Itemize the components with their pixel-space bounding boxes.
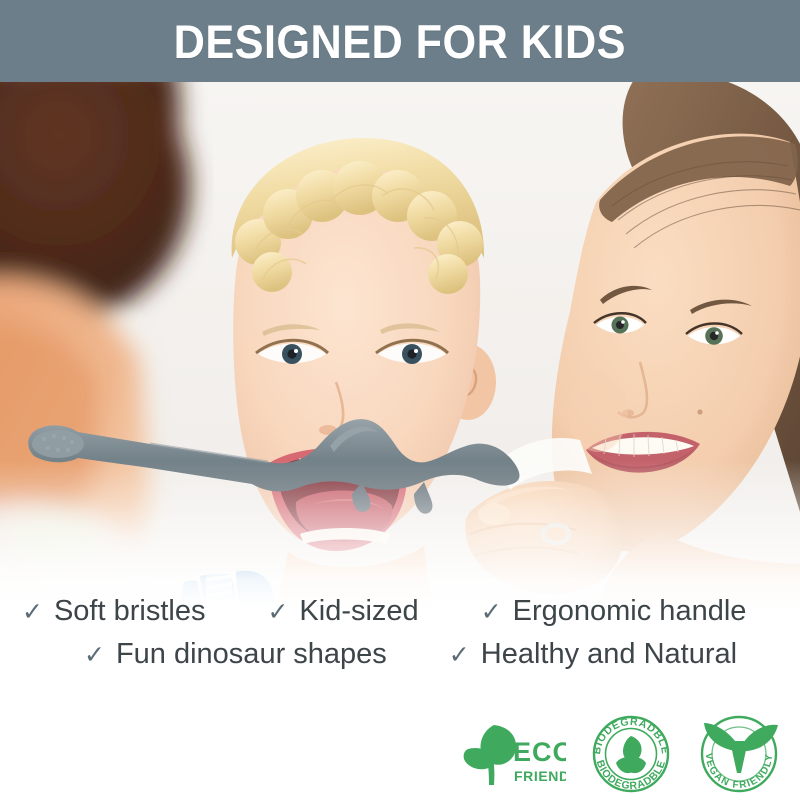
feature-soft-bristles: ✓ Soft bristles bbox=[22, 595, 205, 628]
vegan-friendly-badge: VEGAN FRIENDLY bbox=[696, 711, 782, 797]
biodegradable-badge: BIODEGRADBLE BIODEGRADBLE bbox=[588, 711, 674, 797]
feature-label: Healthy and Natural bbox=[481, 638, 737, 671]
check-icon: ✓ bbox=[267, 600, 288, 625]
feature-row-1: ✓ Soft bristles ✓ Kid-sized ✓ Ergonomic … bbox=[0, 595, 800, 628]
feature-list: ✓ Soft bristles ✓ Kid-sized ✓ Ergonomic … bbox=[0, 595, 800, 705]
hero-photo bbox=[0, 82, 800, 610]
eco-friendly-badge: ECO FRIENDLY bbox=[458, 715, 566, 793]
feature-label: Soft bristles bbox=[54, 595, 206, 628]
certification-badges: ECO FRIENDLY BIODEGRADBLE bbox=[0, 713, 800, 795]
feature-label: Fun dinosaur shapes bbox=[116, 638, 387, 671]
eco-badge-line1: ECO bbox=[513, 737, 566, 767]
leaf-sprout-icon bbox=[464, 725, 516, 785]
page-title: DESIGNED FOR KIDS bbox=[174, 14, 626, 69]
hero-photo-illustration bbox=[0, 82, 800, 610]
header-banner: DESIGNED FOR KIDS bbox=[0, 0, 800, 82]
eco-badge-line2: FRIENDLY bbox=[514, 768, 566, 784]
feature-label: Kid-sized bbox=[299, 595, 418, 628]
feature-kid-sized: ✓ Kid-sized bbox=[267, 595, 418, 628]
feature-label: Ergonomic handle bbox=[513, 595, 747, 628]
check-icon: ✓ bbox=[22, 600, 43, 625]
product-marketing-image: DESIGNED FOR KIDS bbox=[0, 0, 800, 800]
feature-ergonomic-handle: ✓ Ergonomic handle bbox=[481, 595, 747, 628]
feature-row-2: ✓ Fun dinosaur shapes ✓ Healthy and Natu… bbox=[0, 638, 800, 671]
feature-healthy-and-natural: ✓ Healthy and Natural bbox=[449, 638, 737, 671]
recycle-leaves-icon bbox=[616, 736, 646, 773]
check-icon: ✓ bbox=[481, 600, 502, 625]
check-icon: ✓ bbox=[449, 643, 470, 668]
check-icon: ✓ bbox=[84, 643, 105, 668]
feature-fun-dinosaur-shapes: ✓ Fun dinosaur shapes bbox=[84, 638, 387, 671]
